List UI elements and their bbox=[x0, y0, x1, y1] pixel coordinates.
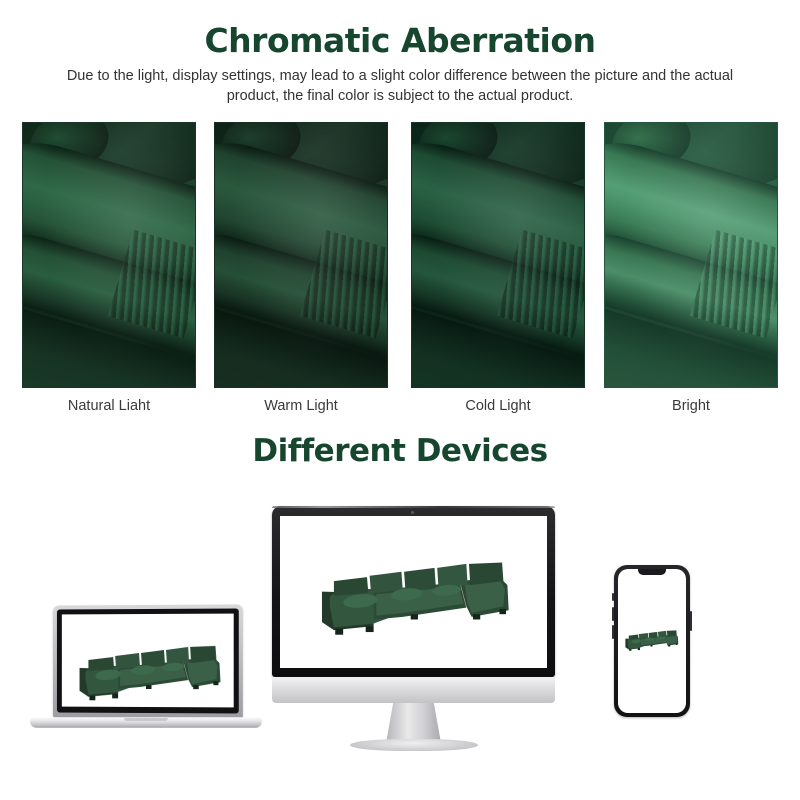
monitor-stand-neck bbox=[386, 703, 441, 743]
laptop-screen bbox=[62, 614, 234, 708]
phone-volume-up-button[interactable] bbox=[612, 607, 614, 621]
laptop-lid bbox=[53, 604, 243, 718]
swatch-label: Cold Light bbox=[411, 398, 585, 414]
swatch-label: Bright bbox=[604, 398, 778, 414]
laptop-bezel bbox=[57, 608, 239, 713]
devices-section-title: Different Devices bbox=[0, 433, 800, 469]
sofa-illustration bbox=[622, 625, 682, 653]
phone-mute-switch[interactable] bbox=[612, 593, 614, 601]
webcam-icon bbox=[411, 511, 414, 514]
page-title: Chromatic Aberration bbox=[0, 21, 800, 60]
monitor-chin bbox=[272, 677, 555, 703]
device-laptop bbox=[30, 605, 262, 750]
cushion-sheen bbox=[412, 123, 584, 387]
swatch-item-warm-light: Warm Light bbox=[214, 122, 388, 388]
swatch-label: Warm Light bbox=[214, 398, 388, 414]
swatch-panel-row: Natural Liaht Warm Light bbox=[0, 122, 800, 422]
product-infographic: Chromatic Aberration Due to the light, d… bbox=[0, 0, 800, 800]
swatch-label: Natural Liaht bbox=[22, 398, 196, 414]
page-subtitle: Due to the light, display settings, may … bbox=[52, 66, 748, 106]
sofa-illustration bbox=[71, 632, 231, 707]
cushion-sheen bbox=[23, 123, 195, 387]
cushion-sheen bbox=[215, 123, 387, 387]
device-desktop-monitor bbox=[272, 506, 555, 756]
swatch-item-cold-light: Cold Light bbox=[411, 122, 585, 388]
phone-body bbox=[614, 565, 690, 717]
sofa-illustration bbox=[310, 544, 522, 642]
phone-volume-down-button[interactable] bbox=[612, 625, 614, 639]
phone-screen bbox=[618, 569, 686, 713]
phone-power-button[interactable] bbox=[690, 611, 692, 631]
devices-row bbox=[0, 480, 800, 780]
swatch-image-natural-light bbox=[22, 122, 196, 388]
swatch-item-natural-light: Natural Liaht bbox=[22, 122, 196, 388]
monitor-stand-base bbox=[350, 739, 478, 751]
monitor-bezel bbox=[272, 506, 555, 677]
swatch-image-warm-light bbox=[214, 122, 388, 388]
monitor-screen bbox=[280, 516, 547, 668]
laptop-notch bbox=[124, 718, 168, 721]
cushion-sheen bbox=[605, 123, 777, 387]
phone-notch bbox=[638, 569, 666, 575]
swatch-image-cold-light bbox=[411, 122, 585, 388]
swatch-image-bright bbox=[604, 122, 778, 388]
swatch-item-bright: Bright bbox=[604, 122, 778, 388]
device-smartphone bbox=[614, 565, 690, 717]
